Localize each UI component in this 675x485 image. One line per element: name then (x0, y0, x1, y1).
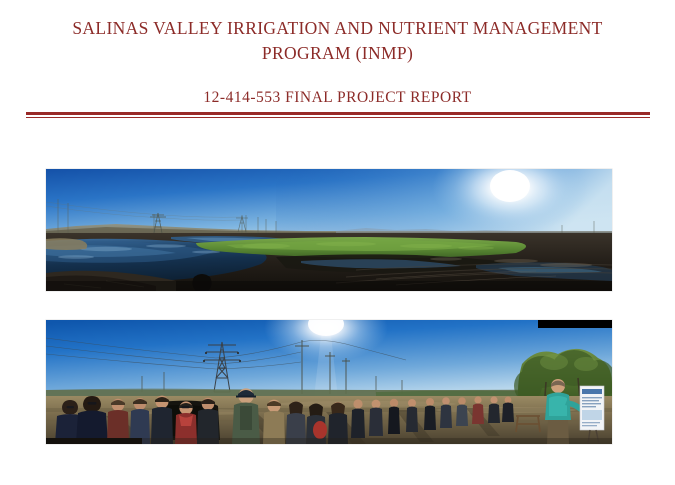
rule-line-thin (26, 117, 650, 119)
page-subtitle: 12-414-553 FINAL PROJECT REPORT (0, 88, 675, 108)
report-cover-page: { "document": { "title": "SALINAS VALLEY… (0, 0, 675, 485)
figure-field-day-tour-group-panorama (46, 320, 612, 444)
double-horizontal-rule (26, 112, 650, 119)
field-day-tour-group-panorama-image (46, 320, 612, 444)
figure-flooded-field-panorama (46, 169, 612, 291)
page-title-block: SALINAS VALLEY IRRIGATION AND NUTRIENT M… (0, 16, 675, 66)
flooded-field-panorama-image (46, 169, 612, 291)
page-title: SALINAS VALLEY IRRIGATION AND NUTRIENT M… (38, 16, 638, 66)
